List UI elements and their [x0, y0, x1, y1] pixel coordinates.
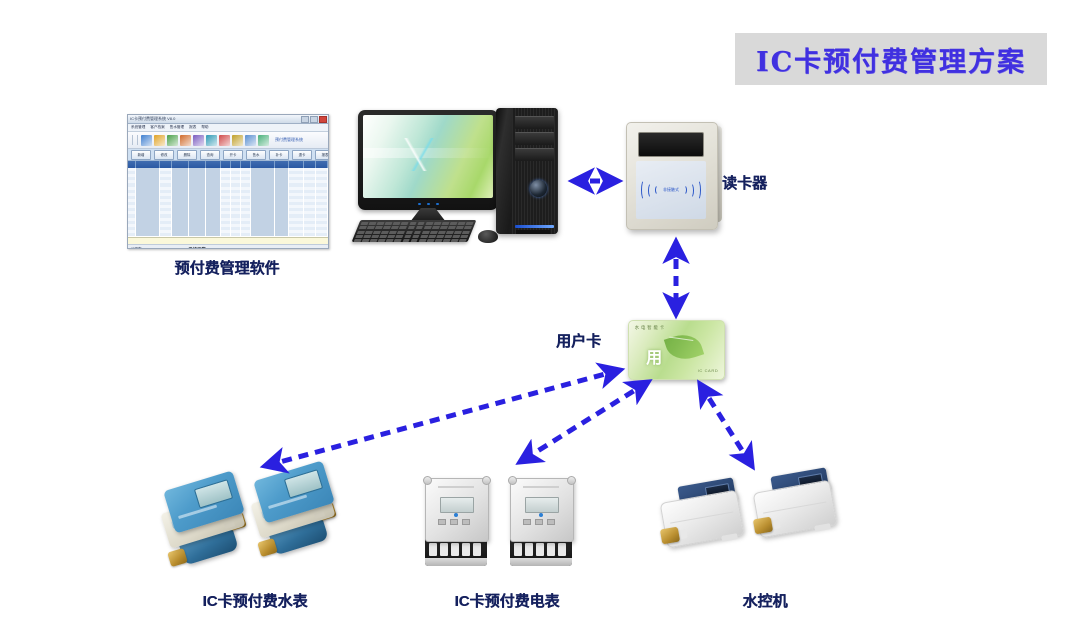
keyboard-row	[359, 226, 472, 229]
menu-item[interactable]: 报表	[189, 125, 196, 130]
arrow-card-to-elec-meter	[520, 382, 648, 462]
column-header-cell[interactable]	[206, 161, 221, 168]
toolbar-icon[interactable]	[141, 135, 152, 146]
keyboard-key[interactable]	[451, 239, 459, 242]
keyboard-key[interactable]	[369, 222, 377, 225]
caption-prepaid-software: 预付费管理软件	[122, 257, 332, 278]
keyboard-key[interactable]	[436, 235, 444, 238]
keyboard-key[interactable]	[466, 222, 474, 225]
meter-brand-strip	[438, 486, 474, 488]
software-status-strip	[128, 237, 328, 244]
column-header-cell[interactable]	[275, 161, 289, 168]
body-foot	[721, 533, 738, 542]
keyboard-key[interactable]	[402, 239, 410, 242]
brass-fitting	[660, 527, 680, 545]
water-controller	[655, 480, 749, 554]
keyboard-key[interactable]	[355, 235, 363, 238]
footer-bold-text: 系统正常	[188, 247, 206, 250]
mounting-ear	[567, 476, 576, 485]
keyboard-key[interactable]	[370, 239, 378, 242]
keyboard-key[interactable]	[407, 226, 415, 229]
keyboard-key[interactable]	[406, 231, 414, 234]
caption-water-meter: IC卡预付费水表	[160, 590, 350, 611]
column-header-cell[interactable]	[221, 161, 231, 168]
keyboard-key[interactable]	[462, 231, 470, 234]
table-cell	[304, 233, 316, 236]
brass-fitting	[753, 517, 773, 535]
meter-buttons[interactable]	[438, 519, 470, 525]
body-foot	[814, 523, 831, 532]
toolbar-icon[interactable]	[245, 135, 256, 146]
terminal-slots	[514, 543, 566, 556]
mounting-ear	[482, 476, 491, 485]
meter-terminal-block	[510, 538, 572, 566]
keyboard-key[interactable]	[367, 226, 375, 229]
keyboard-key[interactable]	[397, 231, 405, 234]
meter-terminal-block	[425, 538, 487, 566]
keyboard-row	[360, 222, 473, 225]
software-action-button[interactable]: 退卡	[292, 150, 312, 160]
keyboard-key[interactable]	[454, 231, 462, 234]
keyboard-key[interactable]	[393, 222, 401, 225]
keyboard-key[interactable]	[426, 239, 434, 242]
title-text: IC卡预付费管理方案	[756, 40, 1026, 79]
keyboard-key[interactable]	[359, 226, 367, 229]
terminal-cover	[425, 558, 487, 566]
keyboard-key[interactable]	[460, 235, 468, 238]
toolbar-icon[interactable]	[180, 135, 191, 146]
table-cell	[221, 233, 231, 236]
keyboard-key[interactable]	[432, 226, 440, 229]
software-window-title: IC卡预付费管理系统 V8.0	[130, 116, 175, 122]
reader-wave-label: 非接触式	[663, 187, 679, 193]
electricity-meter	[506, 474, 580, 570]
column-header-cell[interactable]	[172, 161, 189, 168]
card-top-text: 水 电 智 能 卡	[635, 325, 665, 331]
keyboard-key[interactable]	[383, 226, 391, 229]
keyboard-key[interactable]	[443, 239, 451, 242]
keyboard-key[interactable]	[386, 239, 394, 242]
meter-case	[510, 478, 574, 542]
meter-label-strip	[268, 495, 307, 510]
mounting-ear	[508, 476, 517, 485]
keyboard-key[interactable]	[360, 222, 368, 225]
power-button[interactable]	[530, 180, 547, 197]
keyboard-key[interactable]	[417, 222, 425, 225]
toolbar-icon[interactable]	[232, 135, 243, 146]
toolbar-icon[interactable]	[167, 135, 178, 146]
card-big-char: 用	[646, 344, 662, 368]
table-row[interactable]	[128, 233, 328, 236]
keyboard-key[interactable]	[381, 231, 389, 234]
monitor-chin	[363, 199, 493, 208]
keyboard-key[interactable]	[389, 231, 397, 234]
keyboard-key[interactable]	[396, 235, 404, 238]
keyboard-key[interactable]	[362, 239, 370, 242]
toolbar-separator	[137, 135, 138, 145]
keyboard-key[interactable]	[464, 226, 472, 229]
software-action-button[interactable]: 删除	[177, 150, 197, 160]
keyboard-key[interactable]	[422, 231, 430, 234]
table-cell	[251, 233, 275, 236]
keyboard-key[interactable]	[385, 222, 393, 225]
column-header-cell[interactable]	[304, 161, 316, 168]
keyboard-key[interactable]	[401, 222, 409, 225]
menu-item[interactable]: 售水管理	[170, 125, 184, 130]
meter-case	[425, 478, 489, 542]
column-header-cell[interactable]	[289, 161, 303, 168]
software-footer: 记录数： 系统正常	[128, 244, 328, 249]
meter-lcd-display	[525, 497, 559, 513]
mouse[interactable]	[478, 230, 498, 243]
meter-brand-strip	[523, 486, 559, 488]
desktop-computer	[358, 108, 568, 248]
electricity-meter	[421, 474, 495, 570]
keyboard-key[interactable]	[357, 231, 365, 234]
caption-electricity-meter: IC卡预付费电表	[412, 590, 602, 611]
toolbar-separator	[132, 135, 133, 145]
monitor-screen	[363, 115, 493, 198]
table-cell	[275, 233, 289, 236]
keyboard-key[interactable]	[449, 222, 457, 225]
toolbar-icon[interactable]	[219, 135, 230, 146]
keyboard-key[interactable]	[456, 226, 464, 229]
keyboard-key[interactable]	[379, 235, 387, 238]
water-meter	[248, 462, 346, 566]
meter-indicator-led	[454, 513, 458, 517]
column-header-cell[interactable]	[241, 161, 251, 168]
body-seam	[670, 512, 733, 524]
software-action-button[interactable]: 修改	[154, 150, 174, 160]
keyboard-key[interactable]	[423, 226, 431, 229]
computer-tower	[496, 108, 558, 234]
tower-drive-bay	[515, 132, 554, 145]
toolbar-icon[interactable]	[206, 135, 217, 146]
toolbar-icon[interactable]	[193, 135, 204, 146]
mounting-ear	[423, 476, 432, 485]
keyboard-key[interactable]	[412, 235, 420, 238]
keyboard[interactable]	[352, 220, 477, 242]
keyboard-key[interactable]	[458, 222, 466, 225]
table-cell	[206, 233, 221, 236]
table-cell	[241, 233, 251, 236]
column-header-cell[interactable]	[316, 161, 328, 168]
software-action-button[interactable]: 开卡	[223, 150, 243, 160]
software-button-row[interactable]: 新增修改删除查询开卡售水补卡退卡报表打印退出	[128, 149, 328, 161]
keyboard-key[interactable]	[440, 226, 448, 229]
keyboard-key[interactable]	[414, 231, 422, 234]
table-cell	[189, 233, 205, 236]
rfid-wave-icon: 非接触式	[640, 179, 702, 201]
title-banner: IC卡预付费管理方案	[735, 33, 1047, 85]
software-titlebar: IC卡预付费管理系统 V8.0	[128, 115, 328, 124]
keyboard-key[interactable]	[399, 226, 407, 229]
keyboard-key[interactable]	[420, 235, 428, 238]
user-ic-card: 水 电 智 能 卡 用 IC CARD	[628, 320, 725, 380]
software-toolbar[interactable]: 预付费管理系统	[128, 132, 328, 149]
software-action-button[interactable]: 补卡	[269, 150, 289, 160]
keyboard-key[interactable]	[375, 226, 383, 229]
keyboard-key[interactable]	[353, 239, 361, 242]
column-header-cell[interactable]	[251, 161, 275, 168]
keyboard-key[interactable]	[433, 222, 441, 225]
table-cell	[160, 233, 172, 236]
table-cell	[172, 233, 189, 236]
card-bottom-text: IC CARD	[698, 368, 719, 373]
reader-card-zone[interactable]: 非接触式	[636, 161, 706, 219]
column-header-cell[interactable]	[189, 161, 205, 168]
column-header-cell[interactable]	[128, 161, 136, 168]
window-controls[interactable]	[301, 116, 327, 123]
monitor	[358, 110, 498, 210]
arrow-card-to-water-meter	[265, 370, 620, 466]
keyboard-key[interactable]	[377, 222, 385, 225]
caption-card-reader: 读卡器	[722, 172, 812, 193]
keyboard-key[interactable]	[452, 235, 460, 238]
keyboard-key[interactable]	[363, 235, 371, 238]
keyboard-key[interactable]	[404, 235, 412, 238]
keyboard-key[interactable]	[415, 226, 423, 229]
software-action-button[interactable]: 新增	[131, 150, 151, 160]
column-header-cell[interactable]	[136, 161, 160, 168]
meter-label-strip	[178, 505, 217, 520]
leaf-icon	[664, 329, 704, 364]
reader-body: 非接触式	[626, 122, 718, 230]
software-action-button[interactable]: 报表	[315, 150, 329, 160]
diagram-canvas: IC卡预付费管理方案 IC卡预付费管理系统 V8.0 系统管理 客户档案 售水管…	[0, 0, 1066, 640]
meter-lcd-display	[440, 497, 474, 513]
menu-item[interactable]: 系统管理	[131, 125, 145, 130]
keyboard-key[interactable]	[441, 222, 449, 225]
keyboard-key[interactable]	[434, 239, 442, 242]
software-action-button[interactable]: 售水	[246, 150, 266, 160]
tower-led-strip	[515, 225, 554, 228]
table-cell	[136, 233, 160, 236]
card-reader-device: 非接触式	[626, 122, 718, 230]
footer-left-text: 记录数：	[131, 247, 145, 249]
reader-lcd-display	[638, 132, 704, 157]
menu-item[interactable]: 客户档案	[150, 125, 164, 130]
prepaid-software-window: IC卡预付费管理系统 V8.0 系统管理 客户档案 售水管理 报表 帮助 预付费…	[127, 114, 329, 249]
column-header-cell[interactable]	[160, 161, 172, 168]
keyboard-key[interactable]	[378, 239, 386, 242]
keyboard-key[interactable]	[373, 231, 381, 234]
keyboard-key[interactable]	[388, 235, 396, 238]
keyboard-key[interactable]	[428, 235, 436, 238]
column-header-cell[interactable]	[231, 161, 241, 168]
meter-tab	[224, 521, 235, 529]
body-seam	[763, 502, 826, 514]
keyboard-key[interactable]	[365, 231, 373, 234]
caption-user-card: 用户卡	[556, 330, 622, 351]
toolbar-icon[interactable]	[258, 135, 269, 146]
toolbar-label: 预付费管理系统	[275, 137, 303, 143]
keyboard-key[interactable]	[448, 226, 456, 229]
keyboard-key[interactable]	[444, 235, 452, 238]
caption-water-controller: 水控机	[700, 590, 830, 611]
keyboard-key[interactable]	[418, 239, 426, 242]
keyboard-key[interactable]	[430, 231, 438, 234]
meter-tab	[314, 511, 325, 519]
tower-drive-bay	[515, 116, 554, 129]
software-data-grid[interactable]	[128, 168, 328, 237]
table-cell	[128, 233, 136, 236]
water-meter	[158, 472, 256, 576]
arrow-card-to-controller	[700, 384, 752, 466]
terminal-slots	[429, 543, 481, 556]
table-cell	[289, 233, 303, 236]
table-cell	[231, 233, 241, 236]
terminal-cover	[510, 558, 572, 566]
menu-item[interactable]: 帮助	[201, 125, 208, 130]
keyboard-key[interactable]	[410, 239, 418, 242]
keyboard-row	[355, 235, 468, 238]
meter-buttons[interactable]	[523, 519, 555, 525]
keyboard-row	[357, 231, 470, 234]
keyboard-key[interactable]	[446, 231, 454, 234]
table-cell	[316, 233, 328, 236]
meter-indicator-led	[539, 513, 543, 517]
software-action-button[interactable]: 查询	[200, 150, 220, 160]
table-column-header	[128, 161, 328, 168]
toolbar-icon[interactable]	[154, 135, 165, 146]
tower-foot	[516, 230, 550, 234]
water-controller	[748, 470, 842, 544]
keyboard-key[interactable]	[409, 222, 417, 225]
keyboard-key[interactable]	[371, 235, 379, 238]
keyboard-key[interactable]	[391, 226, 399, 229]
tower-drive-bay	[515, 148, 554, 161]
keyboard-key[interactable]	[425, 222, 433, 225]
keyboard-key[interactable]	[438, 231, 446, 234]
keyboard-key[interactable]	[459, 239, 467, 242]
keyboard-row	[353, 239, 466, 242]
software-menubar[interactable]: 系统管理 客户档案 售水管理 报表 帮助	[128, 124, 328, 132]
keyboard-key[interactable]	[394, 239, 402, 242]
